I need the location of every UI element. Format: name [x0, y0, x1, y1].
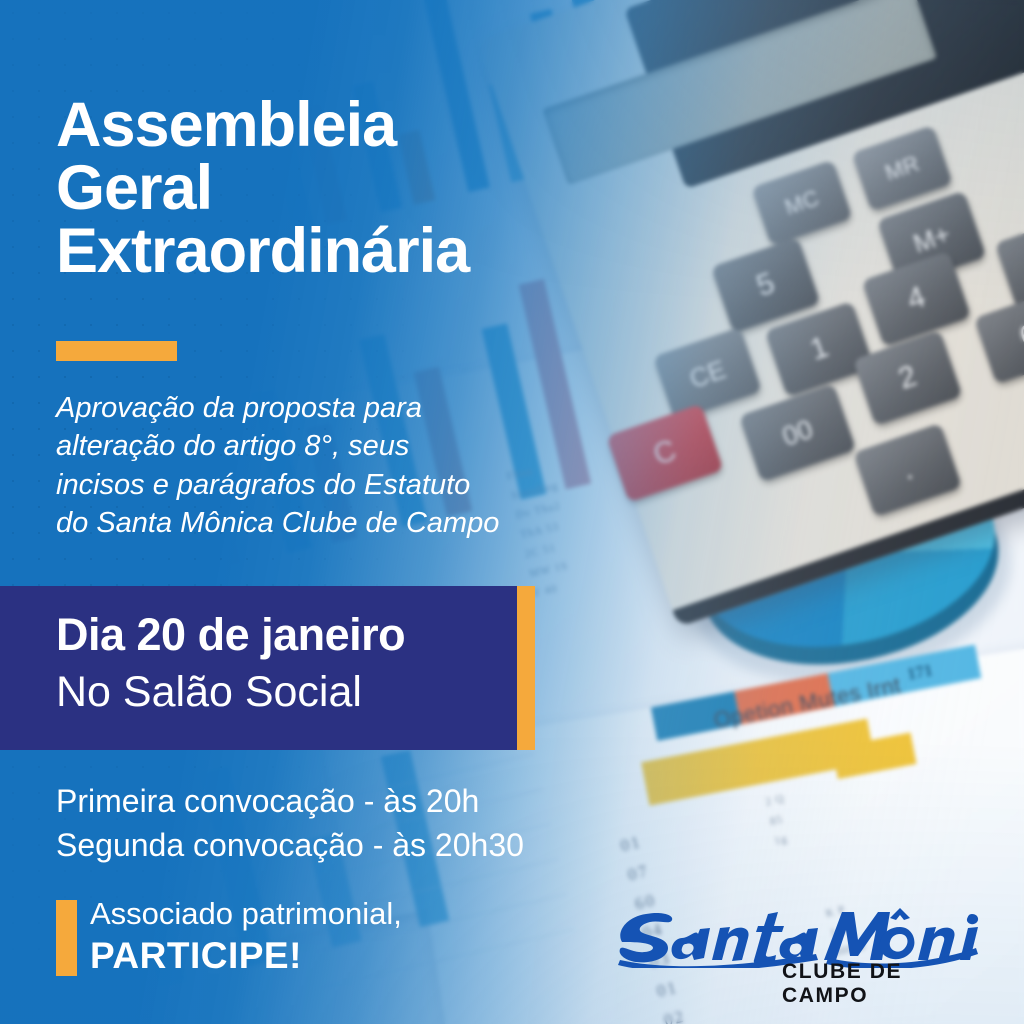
headline-divider: [56, 341, 177, 361]
headline-line-3: Extraordinária: [56, 220, 676, 283]
poster-canvas: R 171 Opetion Mutes Irnt 01076004 030102…: [0, 0, 1024, 1024]
logo-script-icon: [612, 898, 982, 968]
subtitle-line-3: incisos e parágrafos do Estatuto: [56, 466, 596, 504]
cta-accent-bar: [56, 900, 77, 976]
cta-line-1: Associado patrimonial,: [90, 898, 402, 929]
headline-line-1: Assembleia: [56, 94, 676, 157]
event-date: Dia 20 de janeiro: [56, 612, 405, 657]
subtitle-text: Aprovação da proposta para alteração do …: [56, 389, 596, 542]
logo-subtitle: CLUBE DE CAMPO: [782, 960, 982, 1008]
page-title: Assembleia Geral Extraordinária: [56, 94, 676, 283]
headline-line-2: Geral: [56, 157, 676, 220]
subtitle-line-2: alteração do artigo 8°, seus: [56, 427, 596, 465]
convocation-first: Primeira convocação - às 20h: [56, 779, 524, 823]
brand-logo: CLUBE DE CAMPO: [612, 898, 982, 990]
date-band-accent: [517, 586, 535, 750]
convocation-second: Segunda convocação - às 20h30: [56, 823, 524, 867]
convocation-times: Primeira convocação - às 20h Segunda con…: [56, 779, 524, 867]
event-location: No Salão Social: [56, 671, 362, 714]
subtitle-line-4: do Santa Mônica Clube de Campo: [56, 504, 596, 542]
cta-line-2: PARTICIPE!: [90, 937, 302, 974]
poster-content: Assembleia Geral Extraordinária Aprovaçã…: [0, 0, 1024, 1024]
subtitle-line-1: Aprovação da proposta para: [56, 389, 596, 427]
